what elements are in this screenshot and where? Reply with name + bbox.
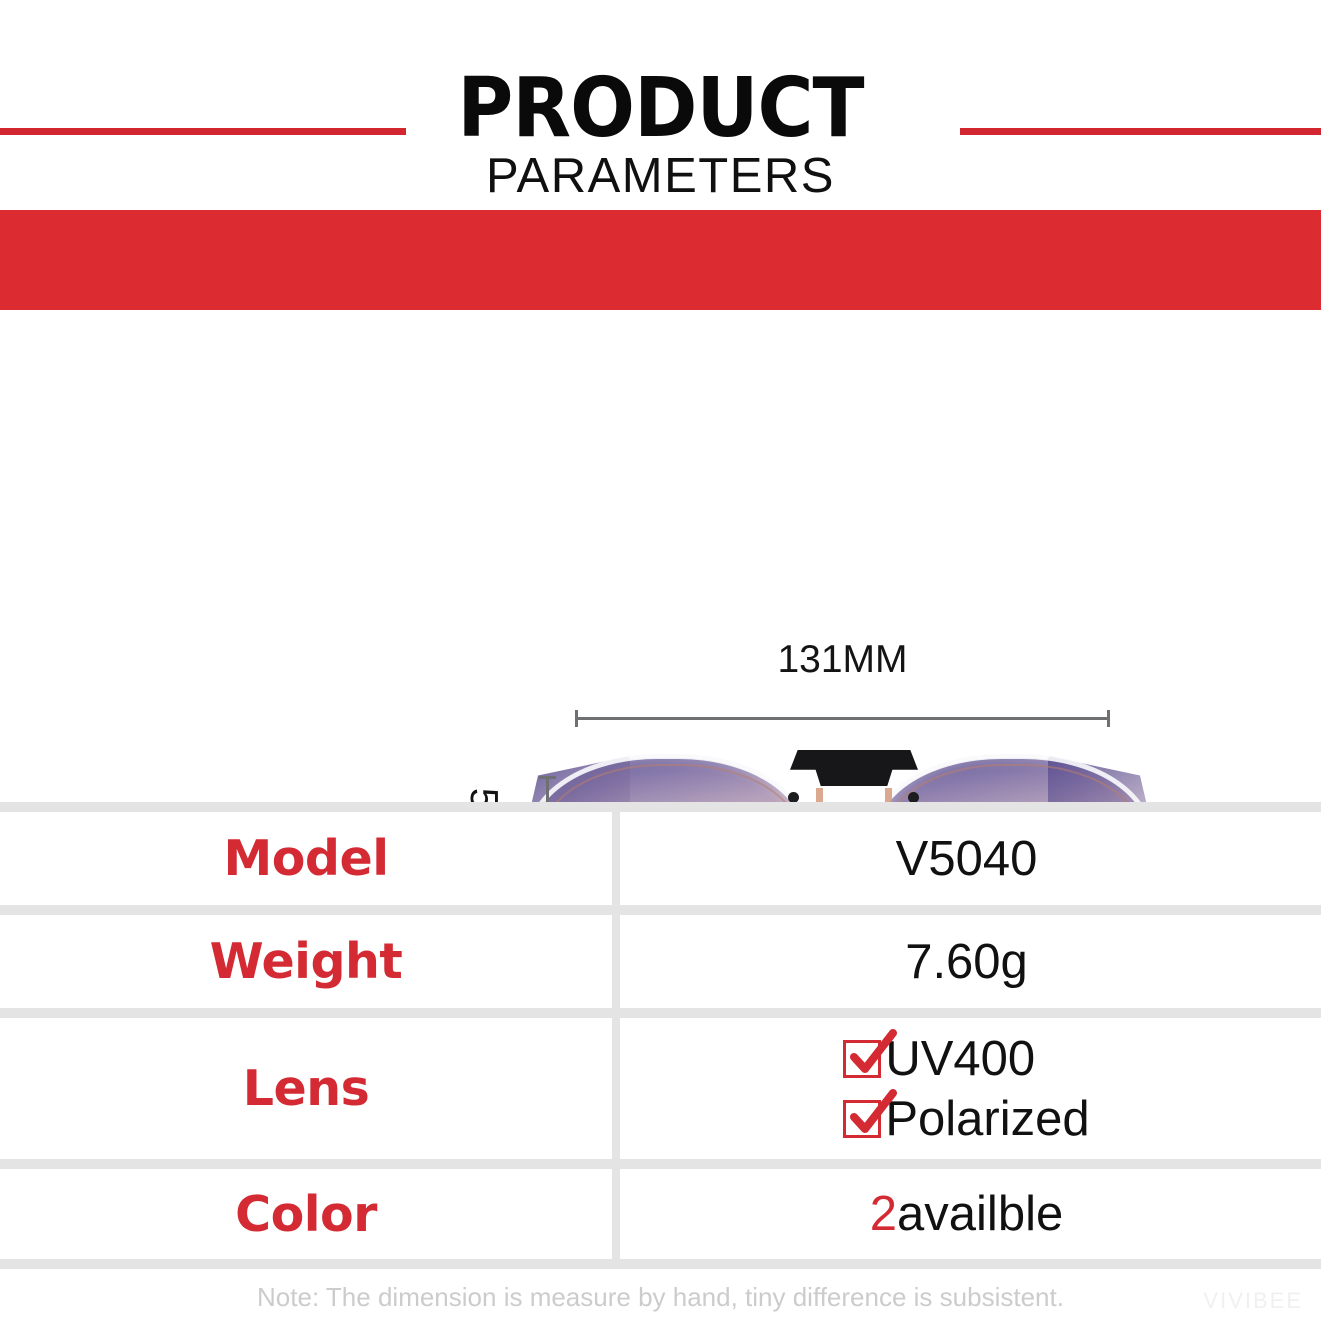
page-title: PRODUCT	[46, 68, 1275, 150]
row-separator	[0, 1008, 1321, 1018]
checkbox-checked-icon	[843, 1100, 881, 1138]
spec-value-lens: UV400 Polarized	[612, 1018, 1321, 1159]
row-separator	[0, 802, 1321, 812]
size-section: SIZE 131MM 52MM 13MM 59MM	[0, 310, 1321, 802]
row-separator	[0, 905, 1321, 915]
page-header: PRODUCT PARAMETERS	[0, 0, 1321, 310]
table-row-color: Color 2 availble	[0, 1169, 1321, 1259]
lens-option-uv400: UV400	[843, 1031, 1089, 1087]
color-availability-label: availble	[897, 1186, 1063, 1242]
spec-label-weight: Weight	[0, 915, 612, 1008]
brand-watermark: VIVIBEE	[1203, 1288, 1303, 1314]
row-separator	[0, 1259, 1321, 1269]
footer-note: Note: The dimension is measure by hand, …	[0, 1282, 1321, 1313]
column-divider	[612, 1018, 620, 1159]
spec-label-model: Model	[0, 812, 612, 905]
table-row-lens: Lens UV400 Polarized	[0, 1018, 1321, 1159]
spec-value-weight: 7.60g	[612, 915, 1321, 1008]
column-divider	[612, 812, 620, 905]
lens-option-polarized: Polarized	[843, 1091, 1089, 1147]
bridge-clip	[790, 750, 918, 786]
row-separator	[0, 1159, 1321, 1169]
dimension-label-total-width: 131MM	[575, 638, 1110, 682]
color-count: 2	[870, 1186, 897, 1242]
page-footer: Note: The dimension is measure by hand, …	[0, 1278, 1321, 1321]
spec-label-lens: Lens	[0, 1018, 612, 1159]
checkbox-checked-icon	[843, 1040, 881, 1078]
spec-value-model: V5040	[612, 812, 1321, 905]
spec-label-color: Color	[0, 1169, 612, 1259]
table-row-model: Model V5040	[0, 812, 1321, 905]
header-red-band	[0, 210, 1321, 310]
lens-option-label: UV400	[885, 1031, 1035, 1087]
column-divider	[612, 1169, 620, 1259]
column-divider	[612, 915, 620, 1008]
page-subtitle: PARAMETERS	[0, 152, 1321, 201]
spec-value-color: 2 availble	[612, 1169, 1321, 1259]
table-row-weight: Weight 7.60g	[0, 915, 1321, 1008]
lens-option-label: Polarized	[885, 1091, 1089, 1147]
dimension-line-total-width	[575, 717, 1110, 720]
spec-table: Model V5040 Weight 7.60g Lens UV400	[0, 802, 1321, 1269]
